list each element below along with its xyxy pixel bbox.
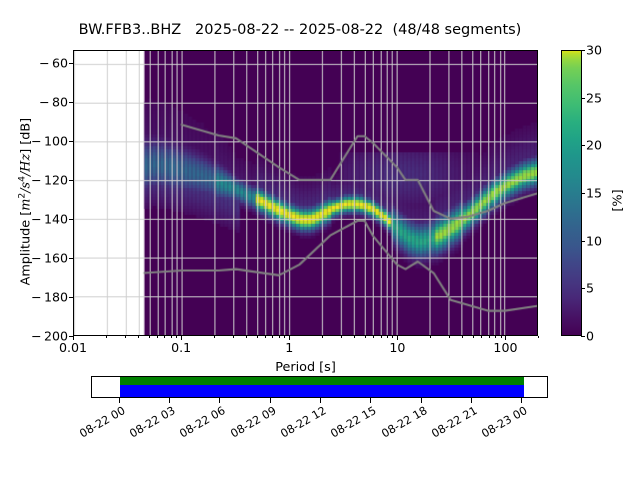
x-minor-tick-mark bbox=[373, 336, 374, 338]
timeline-tick-mark bbox=[471, 398, 472, 403]
x-tick-mark bbox=[73, 336, 74, 340]
y-tick-mark bbox=[69, 219, 73, 220]
green-coverage-band bbox=[120, 377, 524, 385]
timeline-tick-mark bbox=[521, 398, 522, 403]
x-minor-tick-mark bbox=[473, 336, 474, 338]
x-minor-tick-mark bbox=[430, 336, 431, 338]
timeline-tick-mark bbox=[370, 398, 371, 403]
x-minor-tick-mark bbox=[265, 336, 266, 338]
timeline-tick-mark bbox=[320, 398, 321, 403]
x-minor-tick-mark bbox=[214, 336, 215, 338]
colorbar-tick-mark bbox=[581, 336, 585, 337]
y-tick-label: − 180 bbox=[8, 289, 68, 304]
x-minor-tick-mark bbox=[341, 336, 342, 338]
timeline-tick-mark bbox=[219, 398, 220, 403]
x-minor-tick-mark bbox=[246, 336, 247, 338]
colorbar-tick-mark bbox=[581, 98, 585, 99]
y-tick-label: − 60 bbox=[8, 55, 68, 70]
x-minor-tick-mark bbox=[365, 336, 366, 338]
blue-coverage-band bbox=[120, 385, 524, 397]
x-minor-tick-mark bbox=[354, 336, 355, 338]
x-minor-tick-mark bbox=[322, 336, 323, 338]
colorbar-tick-mark bbox=[581, 145, 585, 146]
y-tick-mark bbox=[69, 102, 73, 103]
colorbar-label: [%] bbox=[611, 156, 626, 246]
colorbar-tick-label: 0 bbox=[586, 329, 594, 344]
x-axis-label: Period [s] bbox=[73, 360, 538, 375]
ppsd-density-canvas bbox=[74, 51, 537, 335]
timeline-tick-mark bbox=[119, 398, 120, 403]
colorbar-tick-label: 30 bbox=[586, 43, 602, 58]
x-minor-tick-mark bbox=[449, 336, 450, 338]
x-minor-tick-mark bbox=[387, 336, 388, 338]
figure-title: BW.FFB3..BHZ 2025-08-22 -- 2025-08-22 (4… bbox=[0, 22, 600, 38]
x-tick-label: 1 bbox=[285, 340, 293, 355]
x-minor-tick-mark bbox=[149, 336, 150, 338]
x-tick-label: 0.01 bbox=[59, 340, 87, 355]
y-tick-label: − 80 bbox=[8, 94, 68, 109]
y-tick-label: − 100 bbox=[8, 133, 68, 148]
x-minor-tick-mark bbox=[489, 336, 490, 338]
x-minor-tick-mark bbox=[381, 336, 382, 338]
x-minor-tick-mark bbox=[164, 336, 165, 338]
y-tick-label: − 120 bbox=[8, 172, 68, 187]
x-tick-mark bbox=[397, 336, 398, 340]
y-tick-mark bbox=[69, 141, 73, 142]
y-tick-mark bbox=[69, 63, 73, 64]
x-minor-tick-mark bbox=[106, 336, 107, 338]
x-minor-tick-mark bbox=[233, 336, 234, 338]
x-minor-tick-mark bbox=[495, 336, 496, 338]
x-minor-tick-mark bbox=[284, 336, 285, 338]
x-minor-tick-mark bbox=[481, 336, 482, 338]
colorbar-tick-label: 10 bbox=[586, 233, 602, 248]
x-tick-label: 0.1 bbox=[171, 340, 191, 355]
colorbar-tick-label: 5 bbox=[586, 281, 594, 296]
x-tick-mark bbox=[181, 336, 182, 340]
x-minor-tick-mark bbox=[257, 336, 258, 338]
x-tick-label: 10 bbox=[389, 340, 405, 355]
y-tick-mark bbox=[69, 180, 73, 181]
timeline-tick-mark bbox=[169, 398, 170, 403]
x-minor-tick-mark bbox=[272, 336, 273, 338]
x-tick-mark bbox=[505, 336, 506, 340]
timeline-tick-mark bbox=[421, 398, 422, 403]
y-tick-label: − 140 bbox=[8, 211, 68, 226]
x-tick-mark bbox=[289, 336, 290, 340]
x-minor-tick-mark bbox=[157, 336, 158, 338]
x-minor-tick-mark bbox=[501, 336, 502, 338]
ppsd-figure: BW.FFB3..BHZ 2025-08-22 -- 2025-08-22 (4… bbox=[0, 0, 640, 480]
x-minor-tick-mark bbox=[462, 336, 463, 338]
x-minor-tick-mark bbox=[138, 336, 139, 338]
x-minor-tick-mark bbox=[392, 336, 393, 338]
colorbar-tick-label: 15 bbox=[586, 186, 602, 201]
colorbar-tick-mark bbox=[581, 193, 585, 194]
x-tick-label: 100 bbox=[493, 340, 517, 355]
colorbar-tick-mark bbox=[581, 241, 585, 242]
y-tick-mark bbox=[69, 297, 73, 298]
x-minor-tick-mark bbox=[171, 336, 172, 338]
x-minor-tick-mark bbox=[279, 336, 280, 338]
colorbar-tick-label: 25 bbox=[586, 90, 602, 105]
x-minor-tick-mark bbox=[176, 336, 177, 338]
colorbar bbox=[561, 50, 582, 336]
coverage-timeline[interactable] bbox=[91, 376, 548, 398]
y-tick-mark bbox=[69, 258, 73, 259]
timeline-tick-mark bbox=[270, 398, 271, 403]
colorbar-tick-mark bbox=[581, 288, 585, 289]
colorbar-tick-label: 20 bbox=[586, 138, 602, 153]
ppsd-plot-area[interactable] bbox=[73, 50, 538, 336]
y-tick-label: − 160 bbox=[8, 250, 68, 265]
colorbar-tick-mark bbox=[581, 50, 585, 51]
x-minor-tick-mark bbox=[538, 336, 539, 338]
x-minor-tick-mark bbox=[125, 336, 126, 338]
